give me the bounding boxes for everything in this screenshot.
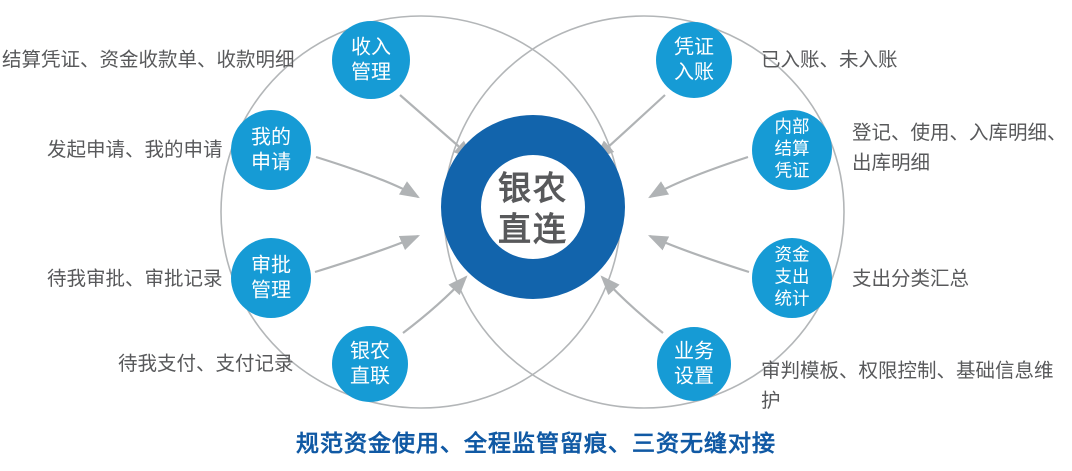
hub-label-line2: 直连 — [498, 211, 568, 248]
node-approval-management[interactable]: 审批 管理 — [231, 238, 311, 318]
node-label-line3: 统计 — [775, 289, 810, 309]
node-label-line1: 银农 — [350, 339, 390, 362]
label-business-settings: 审判模板、权限控制、基础信息维护 — [761, 356, 1072, 416]
node-label-line2: 管理 — [351, 60, 391, 83]
node-bank-farm-direct[interactable]: 银农 直联 — [332, 326, 408, 402]
node-label-line1: 我的 — [251, 125, 291, 148]
arrow-settings-to-hub — [602, 277, 663, 333]
label-my-application: 发起申请、我的申请 — [47, 135, 223, 165]
node-label-line3: 凭证 — [775, 161, 810, 181]
arrow-approval-to-hub — [315, 236, 418, 272]
label-voucher-entry: 已入账、未入账 — [761, 45, 898, 75]
node-income-management[interactable]: 收入 管理 — [332, 21, 410, 99]
node-circle[interactable] — [332, 326, 408, 402]
node-business-settings[interactable]: 业务 设置 — [657, 327, 731, 401]
node-circle[interactable] — [657, 327, 731, 401]
node-circle[interactable] — [231, 110, 311, 190]
arrow-income-to-hub — [400, 95, 472, 158]
node-label-line1: 收入 — [351, 35, 391, 58]
arrow-voucher-to-hub — [596, 95, 665, 158]
node-label-line2: 支出 — [775, 267, 810, 287]
label-internal-settlement: 登记、使用、入库明细、 出库明细 — [852, 118, 1067, 178]
node-label-line2: 结算 — [775, 139, 810, 159]
node-label-line2: 直联 — [350, 364, 390, 387]
node-label-line1: 审批 — [251, 253, 291, 276]
node-label-line2: 管理 — [251, 278, 291, 301]
node-label-line1: 凭证 — [674, 35, 714, 58]
arrow-direct-to-hub — [403, 277, 466, 333]
node-fund-expenditure-stats[interactable]: 资金 支出 统计 — [752, 238, 832, 318]
label-fund-expenditure: 支出分类汇总 — [852, 264, 969, 294]
node-label-line1: 内部 — [775, 117, 810, 137]
node-voucher-entry[interactable]: 凭证 入账 — [656, 22, 732, 98]
label-income-management: 结算凭证、资金收款单、收款明细 — [2, 45, 295, 75]
label-bank-farm-direct: 待我支付、支付记录 — [118, 349, 294, 379]
node-circle[interactable] — [656, 22, 732, 98]
node-label-line2: 设置 — [674, 364, 714, 387]
node-internal-settlement[interactable]: 内部 结算 凭证 — [752, 110, 832, 190]
node-label-line2: 申请 — [251, 150, 291, 173]
node-my-application[interactable]: 我的 申请 — [231, 110, 311, 190]
footer-slogan: 规范资金使用、全程监管留痕、三资无缝对接 — [0, 424, 1072, 458]
hub: 银农 直连 — [461, 135, 605, 279]
node-circle[interactable] — [332, 21, 410, 99]
node-label-line2: 入账 — [674, 60, 714, 83]
arrow-application-to-hub — [316, 157, 418, 197]
arrow-settlement-to-hub — [650, 157, 748, 197]
node-circle[interactable] — [231, 238, 311, 318]
hub-ring — [461, 135, 605, 279]
hub-label-line1: 银农 — [498, 170, 568, 207]
node-label-line1: 资金 — [775, 245, 810, 265]
node-label-line1: 业务 — [674, 339, 714, 362]
diagram-canvas: 银农 直连 收入 管理 我的 申请 审批 管理 银农 — [0, 0, 1072, 471]
label-approval-management: 待我审批、审批记录 — [47, 264, 223, 294]
arrow-expenditure-to-hub — [650, 236, 749, 272]
